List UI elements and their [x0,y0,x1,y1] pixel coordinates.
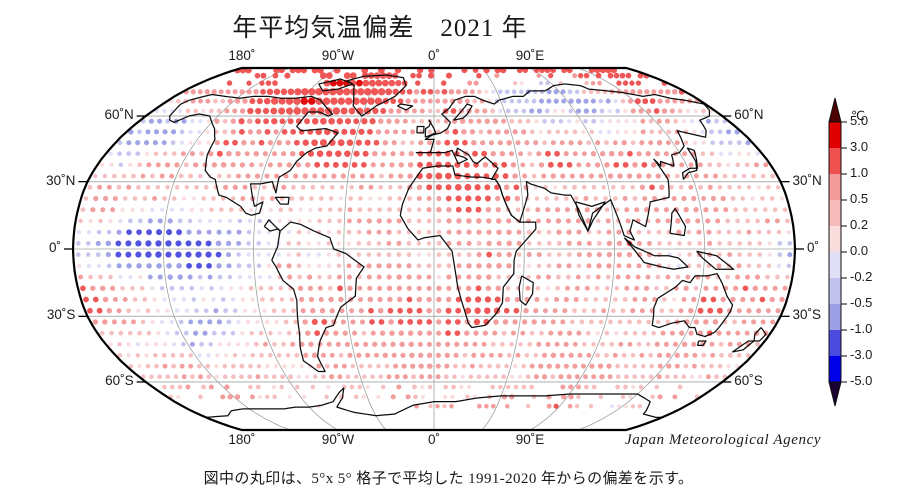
figure-caption: 図中の丸印は、5°x 5° 格子で平均した 1991-2020 年からの偏差を示… [0,467,897,488]
lon-label-top-1: 90˚E [516,48,545,63]
lon-label-top-2: 180˚ [228,48,255,63]
lon-label-top-3: 90˚W [322,48,354,63]
lon-label-bottom-1: 90˚E [516,432,545,447]
lat-label-right-4: 60˚S [734,373,763,388]
lon-label-top-0: 0˚ [428,48,440,63]
colorbar-tick-1: 3.0 [850,139,868,154]
colorbar-tick-4: 0.2 [850,217,868,232]
lat-label-left-3: 30˚S [47,307,76,322]
colorbar-tick-10: -5.0 [850,373,872,388]
colorbar-tick-0: 5.0 [850,113,868,128]
colorbar-tick-8: -1.0 [850,321,872,336]
colorbar-tick-5: 0.0 [850,243,868,258]
colorbar-tick-3: 0.5 [850,191,868,206]
temperature-anomaly-figure: 年平均気温偏差 2021 年 Japan Meteorological Agen… [0,0,897,501]
agency-credit: Japan Meteorological Agency [625,432,821,449]
figure-title: 年平均気温偏差 2021 年 [0,8,760,44]
colorbar-tick-6: -0.2 [850,269,872,284]
lat-label-left-0: 60˚N [104,107,133,122]
lon-label-bottom-0: 0˚ [428,432,440,447]
colorbar-tick-2: 1.0 [850,165,868,180]
lon-label-bottom-2: 180˚ [228,432,255,447]
colorbar-tick-9: -3.0 [850,347,872,362]
colorbar-tick-7: -0.5 [850,295,872,310]
lat-label-right-2: 0˚ [807,240,819,255]
lat-label-right-0: 60˚N [734,107,763,122]
world-map [0,0,897,501]
lon-label-bottom-3: 90˚W [322,432,354,447]
lat-label-left-4: 60˚S [105,373,134,388]
lat-label-left-2: 0˚ [49,240,61,255]
lat-label-left-1: 30˚N [46,173,75,188]
lat-label-right-3: 30˚S [793,307,822,322]
lat-label-right-1: 30˚N [793,173,822,188]
